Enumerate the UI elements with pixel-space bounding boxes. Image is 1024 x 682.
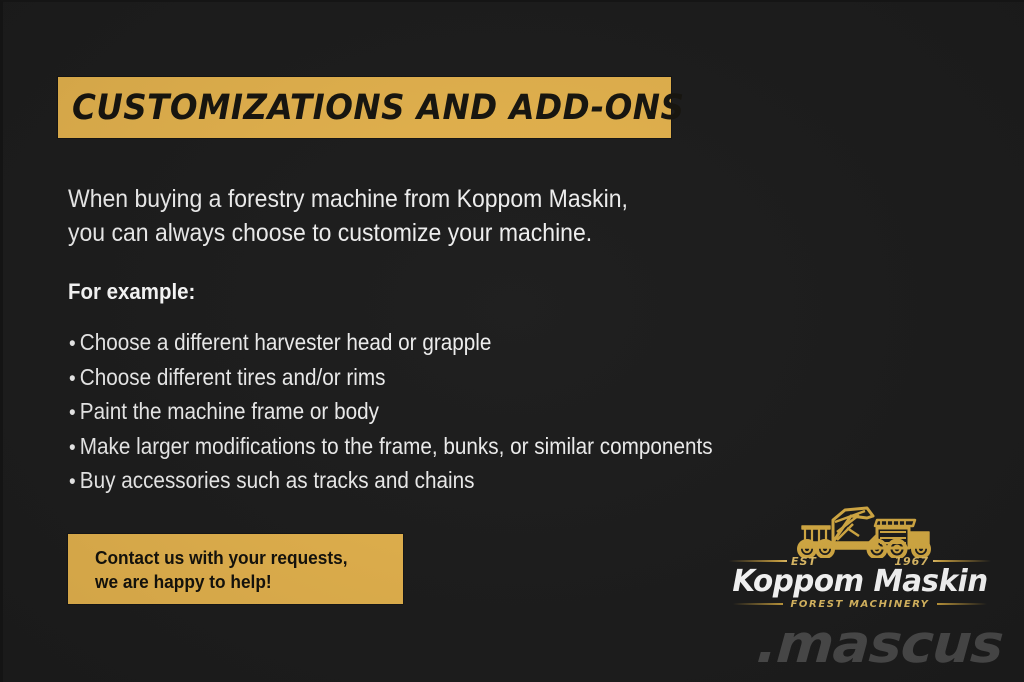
logo-tagline: FOREST MACHINERY [790, 599, 929, 610]
contact-callout-box[interactable]: Contact us with your requests, we are ha… [68, 534, 403, 604]
bullet-marker-icon: • [69, 431, 80, 466]
bullet-marker-icon: • [69, 465, 80, 500]
forestry-forwarder-icon [781, 502, 941, 558]
customization-options-list: •Choose a different harvester head or gr… [69, 325, 713, 498]
page-title: CUSTOMIZATIONS AND ADD-ONS [72, 88, 684, 128]
list-item-label: Choose a different harvester head or gra… [80, 329, 492, 355]
list-item: •Choose different tires and/or rims [69, 360, 713, 395]
logo-tagline-rule-right-icon [937, 603, 987, 605]
intro-line-1: When buying a forestry machine from Kopp… [68, 182, 712, 216]
mascus-watermark: .mascus [755, 614, 1005, 675]
list-item-label: Make larger modifications to the frame, … [80, 433, 713, 459]
promotional-slide: CUSTOMIZATIONS AND ADD-ONS When buying a… [0, 0, 1024, 682]
bullet-marker-icon: • [69, 396, 80, 431]
intro-paragraph: When buying a forestry machine from Kopp… [68, 182, 712, 250]
list-item-label: Buy accessories such as tracks and chain… [80, 467, 475, 493]
bullet-marker-icon: • [69, 362, 80, 397]
logo-rule-left-icon [729, 560, 787, 562]
for-example-heading: For example: [68, 279, 195, 305]
logo-company-name: Koppom Maskin [732, 564, 989, 599]
intro-line-2: you can always choose to customize your … [68, 216, 712, 250]
koppom-maskin-logo: EST 1967 Koppom Maskin FOREST MACHINERY [729, 502, 991, 612]
contact-line-2: we are happy to help! [95, 570, 391, 594]
logo-tagline-row: FOREST MACHINERY [729, 597, 991, 611]
list-item-label: Choose different tires and/or rims [80, 364, 386, 390]
bullet-marker-icon: • [69, 327, 80, 362]
list-item: •Paint the machine frame or body [69, 394, 713, 429]
list-item-label: Paint the machine frame or body [80, 398, 379, 424]
list-item: •Choose a different harvester head or gr… [69, 325, 713, 360]
contact-line-1: Contact us with your requests, [95, 546, 391, 570]
logo-rule-right-icon [933, 560, 991, 562]
list-item: •Make larger modifications to the frame,… [69, 429, 713, 464]
title-banner: CUSTOMIZATIONS AND ADD-ONS [58, 77, 671, 138]
logo-tagline-rule-left-icon [733, 603, 783, 605]
list-item: •Buy accessories such as tracks and chai… [69, 463, 713, 498]
